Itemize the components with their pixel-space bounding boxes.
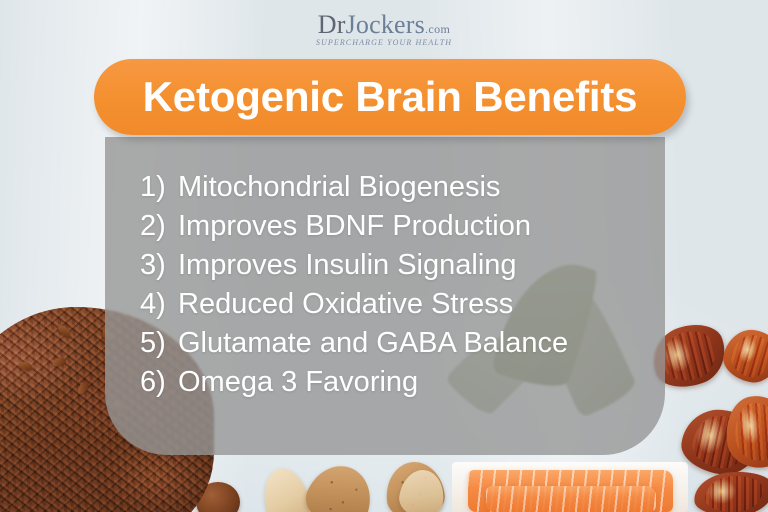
list-item-number: 1) [140,168,178,207]
list-item: 1) Mitochondrial Biogenesis [140,168,660,207]
list-item-label: Improves Insulin Signaling [178,246,660,285]
site-logo: DrJockers.com SUPERCHARGE YOUR HEALTH [0,12,768,47]
list-item: 4) Reduced Oxidative Stress [140,285,660,324]
list-item-number: 6) [140,363,178,402]
salmon-fillet [486,486,656,512]
logo-name: Jockers [346,10,425,39]
list-item: 6) Omega 3 Favoring [140,363,660,402]
logo-prefix: Dr [318,10,346,39]
list-item-label: Glutamate and GABA Balance [178,324,660,363]
list-item: 2) Improves BDNF Production [140,207,660,246]
list-item-label: Mitochondrial Biogenesis [178,168,660,207]
title-banner: Ketogenic Brain Benefits [94,59,686,135]
page-title: Ketogenic Brain Benefits [143,76,638,118]
list-item-label: Omega 3 Favoring [178,363,660,402]
list-item: 5) Glutamate and GABA Balance [140,324,660,363]
benefits-list: 1) Mitochondrial Biogenesis 2) Improves … [140,168,660,402]
logo-wordmark: DrJockers.com [318,12,450,38]
list-item-number: 5) [140,324,178,363]
logo-tagline: SUPERCHARGE YOUR HEALTH [0,39,768,47]
logo-domain: .com [425,22,450,36]
list-item-number: 3) [140,246,178,285]
keto-brain-benefits-poster: DrJockers.com SUPERCHARGE YOUR HEALTH Ke… [0,0,768,512]
list-item-label: Reduced Oxidative Stress [178,285,660,324]
list-item: 3) Improves Insulin Signaling [140,246,660,285]
list-item-number: 2) [140,207,178,246]
list-item-label: Improves BDNF Production [178,207,660,246]
list-item-number: 4) [140,285,178,324]
